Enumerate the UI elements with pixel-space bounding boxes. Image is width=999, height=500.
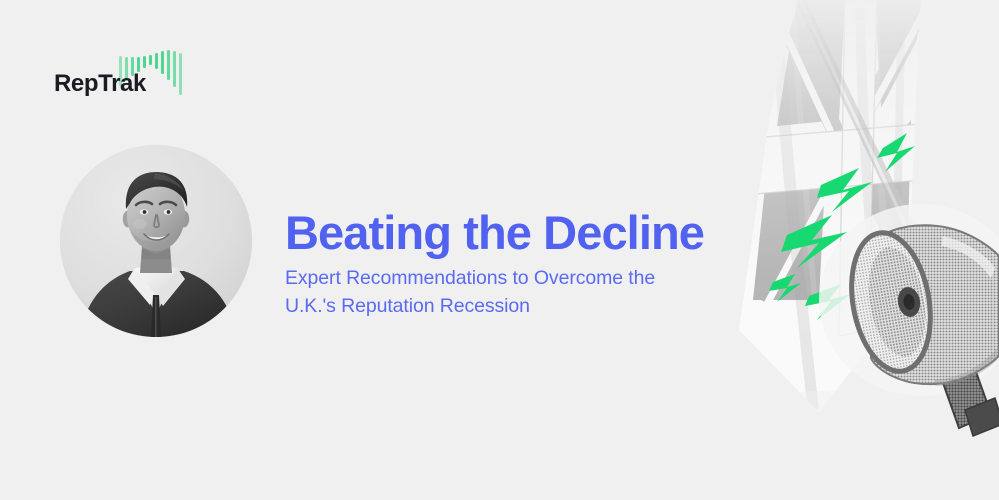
waveform-bar xyxy=(179,53,182,95)
sound-lightning-bolts xyxy=(769,133,915,320)
waveform-bar xyxy=(161,51,164,74)
page-subtitle: Expert Recommendations to Overcome the U… xyxy=(285,265,735,320)
waveform-bar xyxy=(167,50,170,80)
waveform-bar xyxy=(149,55,152,65)
waveform-bar xyxy=(173,51,176,87)
waveform-bar xyxy=(155,53,158,69)
speaker-headshot-image xyxy=(60,145,252,337)
megaphone-icon xyxy=(819,204,999,436)
speaker-headshot xyxy=(60,145,252,337)
waveform-bar xyxy=(143,56,146,68)
hero-artwork xyxy=(669,0,999,500)
page-subtitle-line-2: U.K.'s Reputation Recession xyxy=(285,293,735,321)
flagpole xyxy=(789,0,931,266)
promo-banner: RepTrak xyxy=(0,0,999,500)
reptrak-wordmark: RepTrak xyxy=(54,72,146,96)
union-jack-flag xyxy=(709,0,971,440)
reptrak-logo[interactable]: RepTrak xyxy=(54,48,224,104)
page-title: Beating the Decline xyxy=(285,209,704,258)
page-subtitle-line-1: Expert Recommendations to Overcome the xyxy=(285,265,735,293)
